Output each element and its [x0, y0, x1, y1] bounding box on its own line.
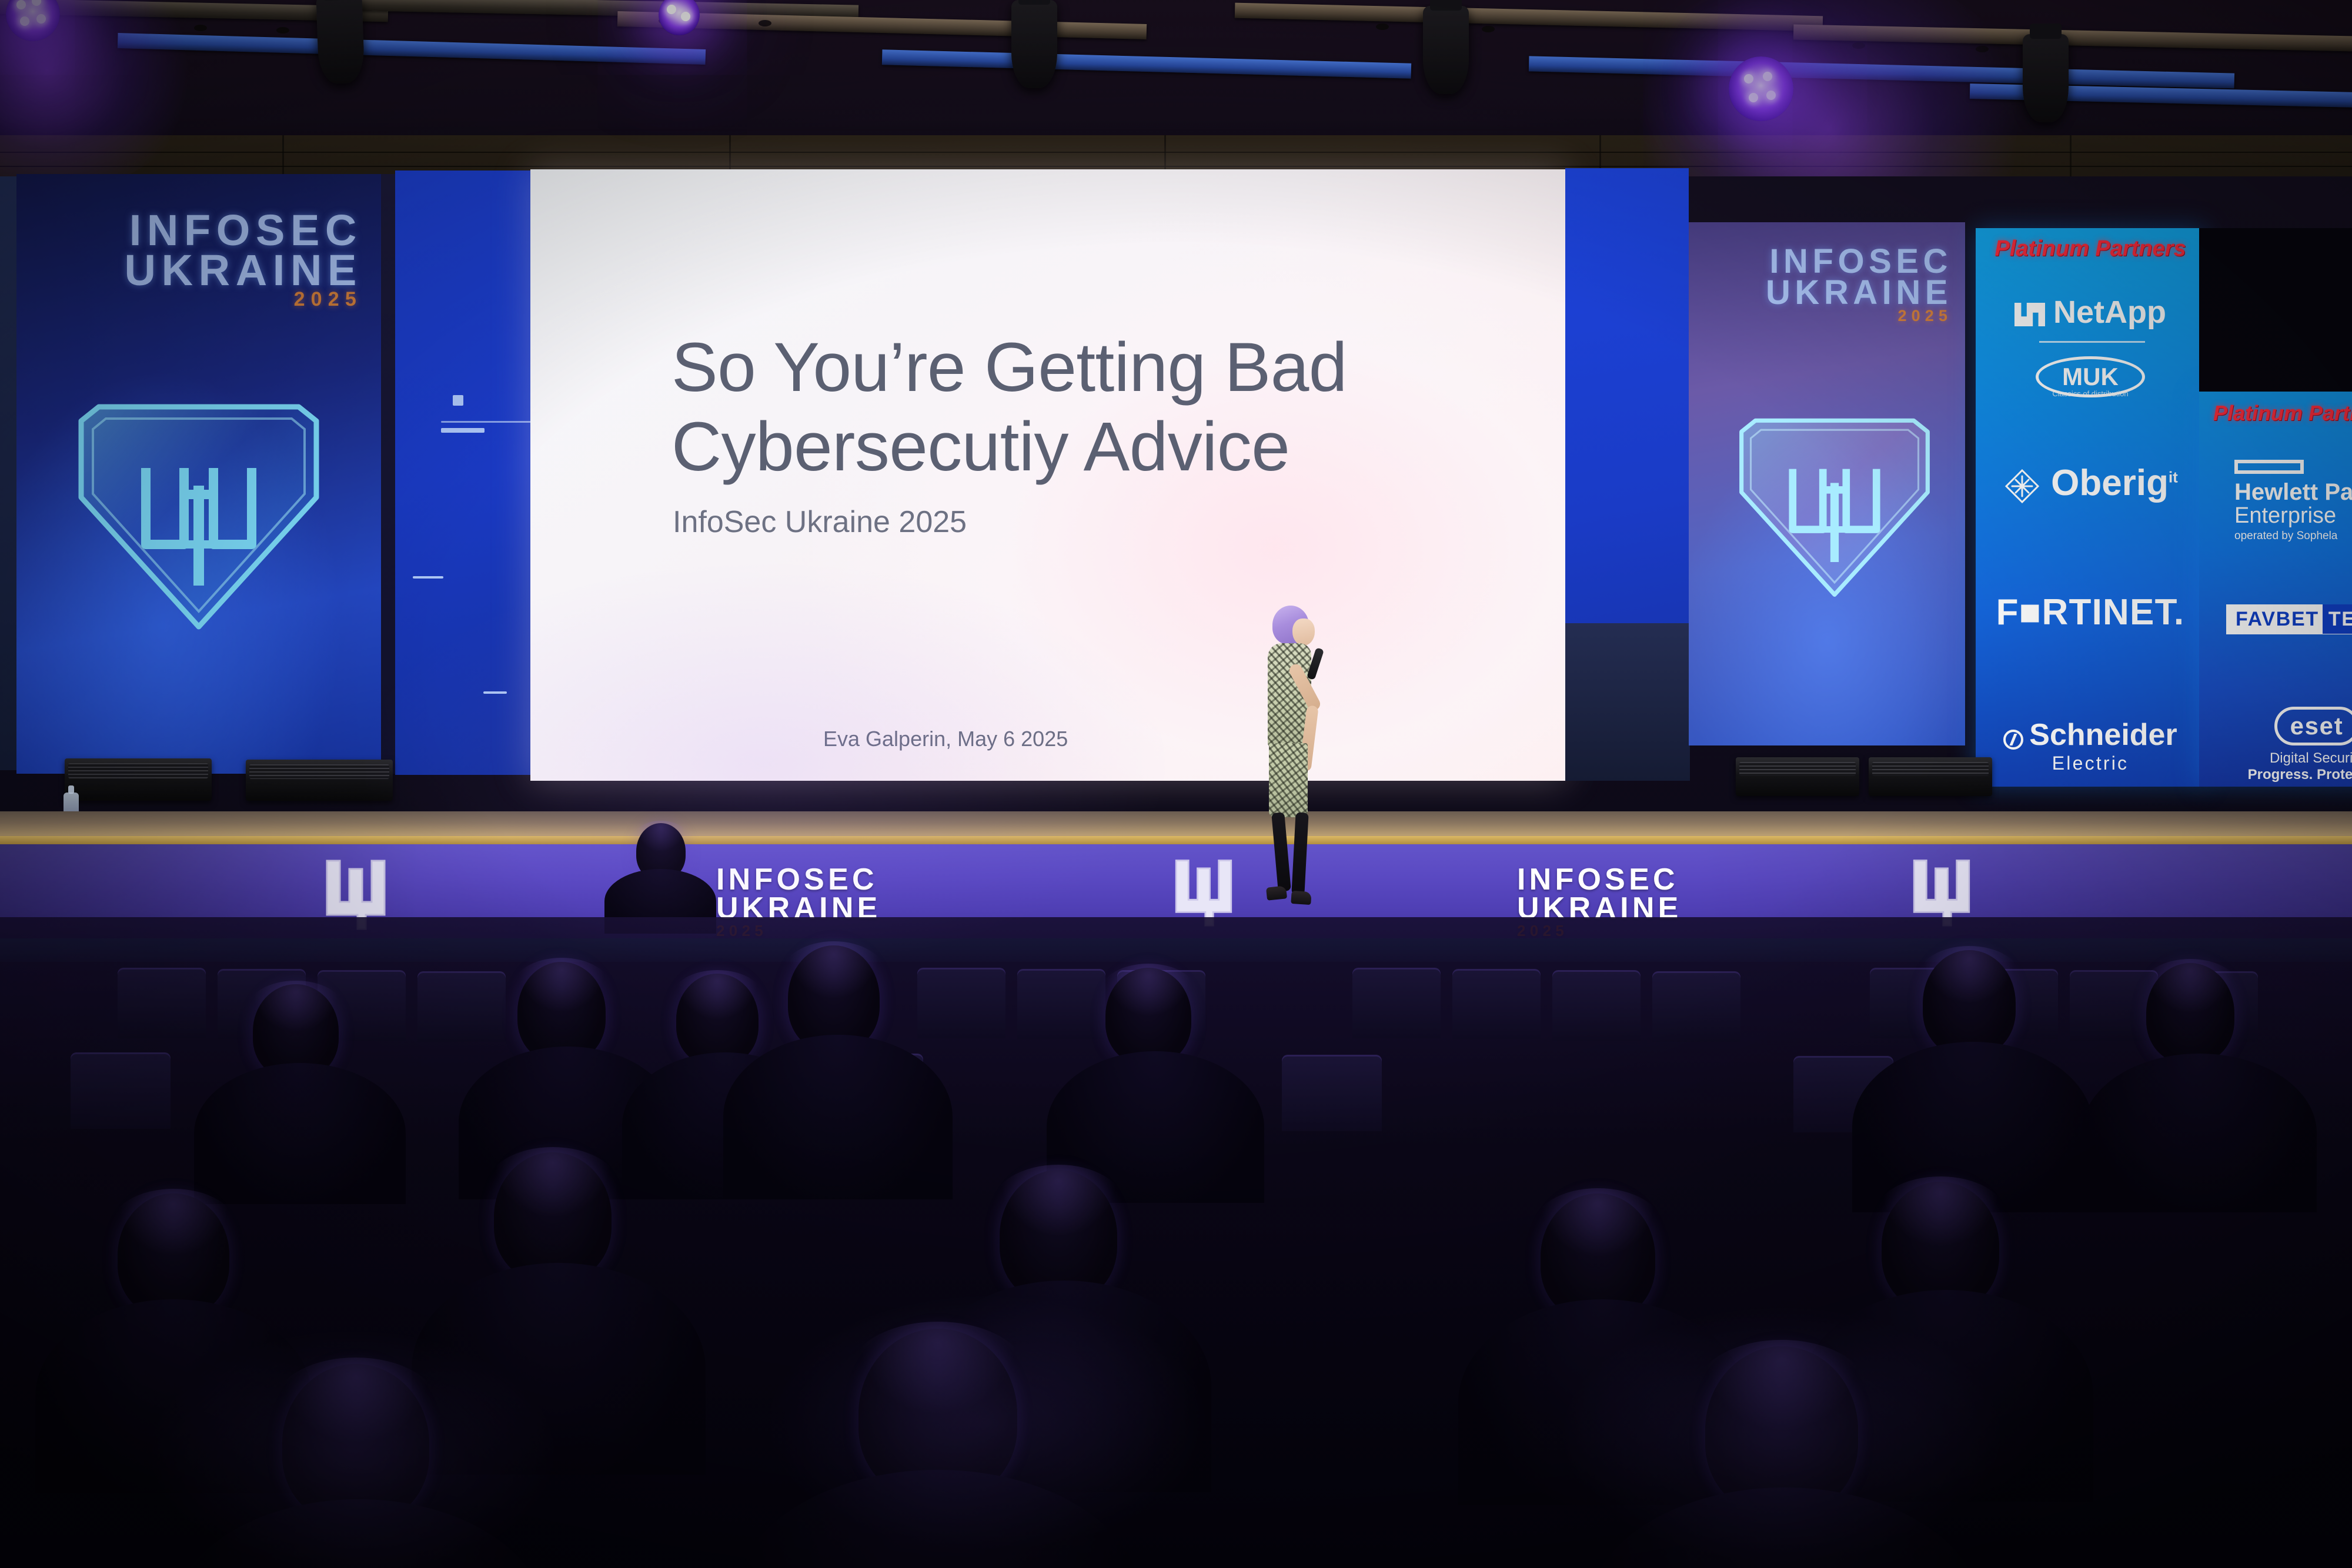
banner-right: INFOSEC UKRAINE 2025 — [1689, 222, 1965, 745]
slide-title-line-1: So You’re Getting Bad — [671, 329, 1347, 406]
screen-side-panel-left — [395, 170, 530, 775]
decor-dash — [413, 576, 443, 579]
schneider-label: Schneider — [2029, 718, 2177, 752]
stage-wash-light-bar — [65, 758, 212, 801]
screen-lower-shadow — [1565, 623, 1690, 781]
favbet-icon: FAVBETTECH — [2226, 604, 2352, 634]
truss-hole — [1852, 42, 1865, 49]
presentation-slide: So You’re Getting Bad Cybersecutiy Advic… — [530, 169, 1565, 781]
sponsor-logo-fortinet: F■RTINET. — [1976, 591, 2205, 633]
sponsor-logo-hpe: Hewlett Packard Enterprise operated by S… — [2234, 460, 2352, 542]
wordmark-line-2: UKRAINE — [33, 250, 362, 290]
truss-bar-lit — [1529, 56, 2234, 88]
moving-head-light — [2023, 34, 2069, 122]
decor-square — [453, 395, 463, 406]
oberig-icon — [2003, 467, 2042, 506]
eset-line-2: Digital Security — [2223, 750, 2352, 767]
schneider-suffix: Electric — [1976, 753, 2205, 774]
stage-wash-light-bar — [1736, 757, 1859, 796]
truss-hole — [759, 20, 771, 26]
netapp-icon — [2014, 303, 2045, 326]
truss-bar-warm — [1235, 3, 1823, 32]
sponsor-logo-schneider: Schneider Electric — [1976, 717, 2205, 774]
oberig-suffix: it — [2169, 468, 2178, 486]
truss-bar-warm — [1793, 25, 2352, 52]
eset-icon: eset — [2274, 707, 2352, 745]
sponsor-logo-favbet: FAVBETTECH — [2226, 604, 2352, 634]
audience-area — [0, 917, 2352, 1568]
sponsor-panel-title: Platinum Partners — [2213, 401, 2352, 426]
fortinet-label: F■RTINET. — [1996, 592, 2185, 633]
audience-head — [118, 1193, 229, 1317]
muk-tagline: Classics of distribution — [1976, 389, 2205, 398]
sponsor-logo-muk: MUK Classics of distribution — [1976, 356, 2205, 398]
moving-head-light — [1423, 6, 1469, 94]
wordmark-line-1: INFOSEC — [33, 210, 362, 250]
audience-head — [494, 1152, 612, 1282]
truss-hole — [1376, 24, 1389, 30]
banner-left-wordmark: INFOSEC UKRAINE 2025 — [33, 210, 362, 309]
audience-shoulders — [194, 1063, 406, 1204]
decor-line — [441, 421, 530, 423]
banner-divider — [381, 174, 396, 774]
speaker-figure — [1229, 606, 1382, 917]
wordmark-line-2: UKRAINE — [1699, 277, 1952, 308]
sponsor-logo-eset: eset Digital Security Progress. Protecte… — [2223, 707, 2352, 783]
audience-rim-light — [147, 1329, 559, 1568]
banner-left: INFOSEC UKRAINE 2025 — [16, 174, 381, 774]
slide-title: So You’re Getting Bad Cybersecutiy Advic… — [671, 328, 1412, 486]
moving-head-light — [1011, 0, 1057, 88]
seat — [1017, 969, 1105, 1039]
audience-head — [1923, 950, 2016, 1056]
sponsor-logo-oberig: Oberigit — [1976, 462, 2205, 506]
truss-bar-lit — [882, 49, 1411, 79]
truss-hole — [276, 27, 289, 34]
ukraine-trident-shield-emblem-icon — [1723, 374, 1946, 638]
speaker-leg-back — [1271, 812, 1291, 891]
eset-tagline: Progress. Protected. — [2223, 767, 2352, 783]
wall-dark-gap — [2199, 228, 2352, 392]
par-can-light — [1729, 56, 1793, 121]
sponsor-panel-platinum-1: Platinum Partners NetApp MUK Classics of… — [1976, 228, 2205, 787]
audience-head — [676, 974, 759, 1065]
seat — [1352, 968, 1441, 1038]
audience-rim-light — [1558, 1305, 2005, 1564]
truss-hole — [1976, 46, 1989, 52]
truss-hole — [1482, 26, 1495, 32]
audience-shoulders — [723, 1035, 953, 1199]
slide-subtitle: InfoSec Ukraine 2025 — [673, 504, 967, 540]
seat — [71, 1052, 171, 1129]
seat — [1652, 971, 1740, 1042]
truss-bar-lit — [118, 33, 706, 65]
seat — [1282, 1055, 1382, 1131]
hpe-icon — [2234, 460, 2304, 474]
ukraine-trident-shield-emblem-icon — [58, 350, 340, 680]
speaker-shoe-front — [1291, 891, 1311, 905]
wordmark-line-1: INFOSEC — [1699, 246, 1952, 277]
stage-wash-light-bar — [246, 760, 393, 801]
eset-label: eset — [2290, 712, 2344, 740]
audience-head — [2146, 963, 2234, 1063]
slide-title-line-2: Cybersecutiy Advice — [671, 408, 1289, 486]
hpe-label-line-2: Enterprise — [2234, 504, 2352, 528]
audience-head — [1105, 968, 1191, 1064]
hpe-label: Hewlett Packard — [2234, 479, 2352, 505]
sponsor-logo-netapp: NetApp — [1976, 294, 2205, 330]
seat — [917, 968, 1005, 1038]
speaker-skirt — [1269, 743, 1308, 817]
seated-person-silhouette — [600, 823, 717, 929]
truss-hole — [194, 25, 207, 31]
speaker-face — [1292, 618, 1315, 646]
favbet-label: FAVBET — [2236, 608, 2319, 630]
audience-rim-light — [764, 1293, 1211, 1552]
favbet-suffix: TECH — [2323, 604, 2352, 634]
speaker-shoe-back — [1266, 885, 1287, 900]
audience-shoulders — [2082, 1054, 2317, 1212]
seat — [1552, 970, 1641, 1041]
seat — [118, 968, 206, 1038]
netapp-label: NetApp — [2053, 295, 2166, 330]
slide-credit: Eva Galperin, May 6 2025 — [823, 727, 1068, 751]
seat — [1452, 969, 1541, 1039]
sponsor-divider — [2039, 341, 2145, 343]
oberig-label: Oberig — [2051, 463, 2169, 503]
sponsor-panel-platinum-2: Platinum Partners Hewlett Packard Enterp… — [2199, 392, 2352, 787]
moving-head-light — [316, 0, 365, 84]
schneider-icon — [2003, 730, 2023, 750]
seat — [417, 971, 506, 1042]
stage-wash-light-bar — [1869, 757, 1992, 796]
conference-stage-photo: INFOSEC UKRAINE 2025 — [0, 0, 2352, 1568]
decor-dash — [483, 691, 507, 694]
banner-right-wordmark: INFOSEC UKRAINE 2025 — [1699, 246, 1952, 323]
decor-dash — [441, 428, 485, 433]
muk-label: MUK — [2062, 363, 2119, 390]
sponsor-panel-title: Platinum Partners — [1976, 236, 2205, 262]
hpe-tagline: operated by Sophela — [2234, 530, 2352, 542]
speaker-leg-front — [1291, 813, 1308, 895]
